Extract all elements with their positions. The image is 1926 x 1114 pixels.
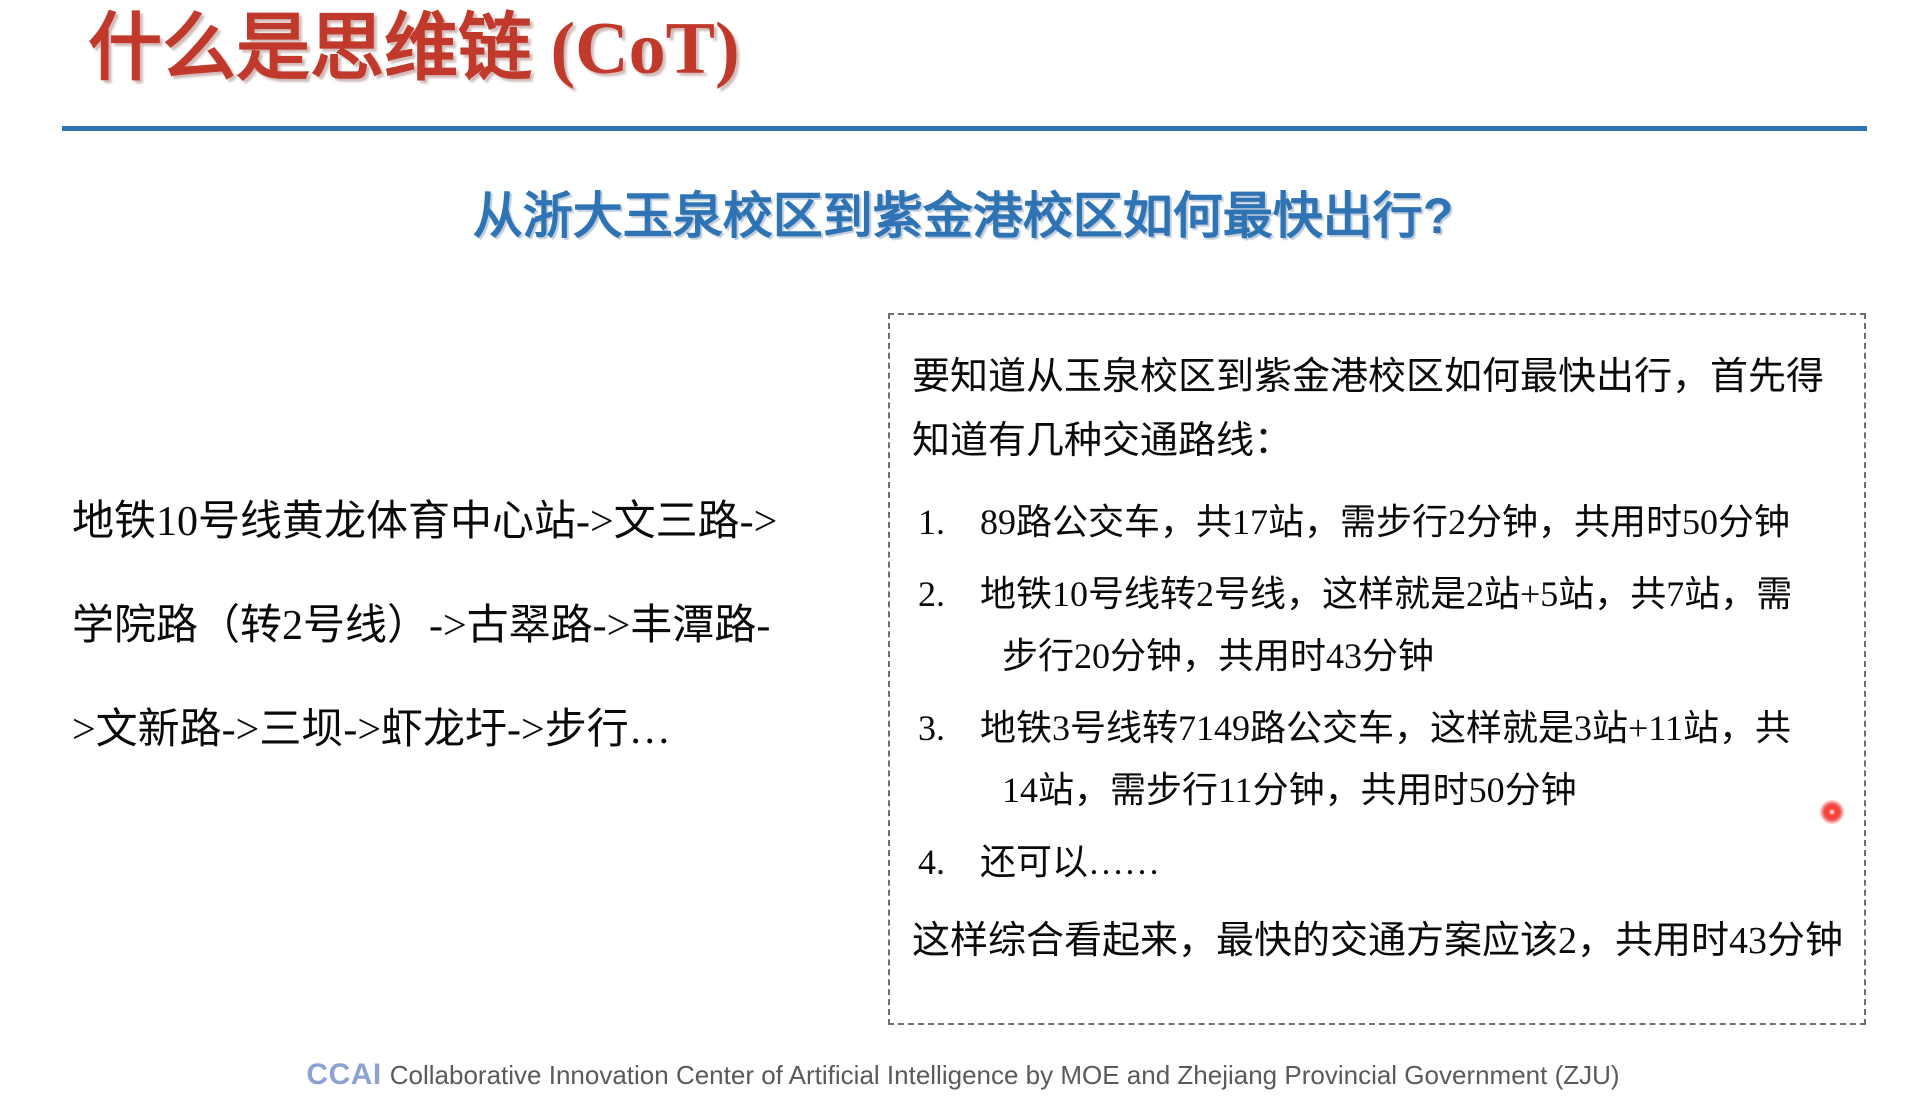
route-line: 学院路（转2号线）->古翠路->丰潭路- bbox=[72, 574, 832, 678]
list-item-number: 1. bbox=[918, 491, 970, 553]
route-line: >文新路->三坝->虾龙圩->步行… bbox=[72, 678, 832, 782]
title-divider bbox=[62, 126, 1867, 131]
page-title: 什么是思维链 (CoT) bbox=[88, 8, 740, 91]
list-item-line: 14站，需步行11分钟，共用时50分钟 bbox=[980, 759, 1846, 821]
cot-conclusion: 这样综合看起来，最快的交通方案应该2，共用时43分钟 bbox=[912, 911, 1846, 971]
list-item: 2. 地铁10号线转2号线，这样就是2站+5站，共7站，需 步行20分钟，共用时… bbox=[912, 563, 1846, 687]
footer-text: Collaborative Innovation Center of Artif… bbox=[390, 1060, 1620, 1090]
list-item: 4. 还可以…… bbox=[912, 831, 1846, 893]
list-item-number: 2. bbox=[918, 563, 970, 625]
list-item-number: 3. bbox=[918, 697, 970, 759]
list-item-line: 89路公交车，共17站，需步行2分钟，共用时50分钟 bbox=[980, 491, 1846, 553]
list-item: 3. 地铁3号线转7149路公交车，这样就是3站+11站，共 14站，需步行11… bbox=[912, 697, 1846, 821]
page-title-en: (CoT) bbox=[532, 8, 740, 90]
cot-reasoning-box: 要知道从玉泉校区到紫金港校区如何最快出行，首先得 知道有几种交通路线： 1. 8… bbox=[888, 313, 1866, 1025]
page-title-cn: 什么是思维链 bbox=[88, 8, 532, 90]
list-item-line: 步行20分钟，共用时43分钟 bbox=[980, 625, 1846, 687]
list-item: 1. 89路公交车，共17站，需步行2分钟，共用时50分钟 bbox=[912, 491, 1846, 553]
ccai-logo: CCAI bbox=[306, 1058, 381, 1091]
footer: CCAICollaborative Innovation Center of A… bbox=[0, 1058, 1926, 1092]
laser-pointer-icon bbox=[1820, 800, 1844, 824]
list-item-number: 4. bbox=[918, 831, 970, 893]
cot-option-list: 1. 89路公交车，共17站，需步行2分钟，共用时50分钟 2. 地铁10号线转… bbox=[912, 491, 1846, 893]
list-item-line: 地铁10号线转2号线，这样就是2站+5站，共7站，需 bbox=[980, 563, 1846, 625]
cot-intro-line: 知道有几种交通路线： bbox=[912, 409, 1846, 473]
cot-intro: 要知道从玉泉校区到紫金港校区如何最快出行，首先得 知道有几种交通路线： bbox=[912, 345, 1846, 473]
route-text-block: 地铁10号线黄龙体育中心站->文三路-> 学院路（转2号线）->古翠路->丰潭路… bbox=[72, 470, 832, 782]
route-line: 地铁10号线黄龙体育中心站->文三路-> bbox=[72, 470, 832, 574]
cot-intro-line: 要知道从玉泉校区到紫金港校区如何最快出行，首先得 bbox=[912, 345, 1846, 409]
list-item-line: 还可以…… bbox=[980, 831, 1846, 893]
list-item-line: 地铁3号线转7149路公交车，这样就是3站+11站，共 bbox=[980, 697, 1846, 759]
sub-heading: 从浙大玉泉校区到紫金港校区如何最快出行? bbox=[0, 188, 1926, 246]
